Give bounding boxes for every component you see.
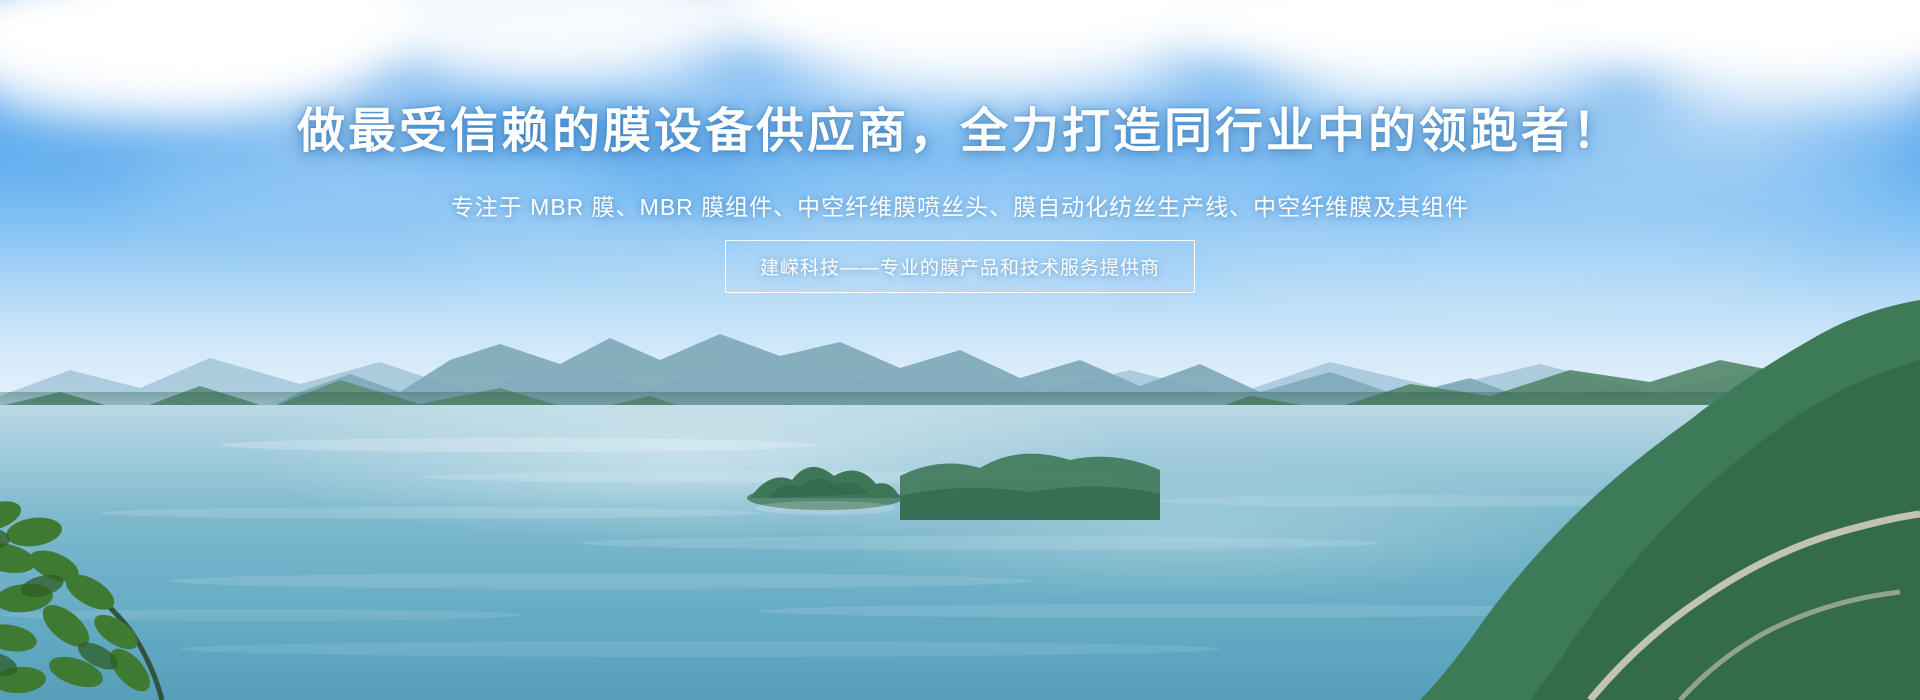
hero-banner: 做最受信赖的膜设备供应商，全力打造同行业中的领跑者！ 专注于 MBR 膜、MBR…: [0, 0, 1920, 700]
foreground-foliage-branch: [0, 420, 240, 700]
right-foreground-hillside: [1120, 300, 1920, 700]
lake-islet: [740, 436, 910, 516]
